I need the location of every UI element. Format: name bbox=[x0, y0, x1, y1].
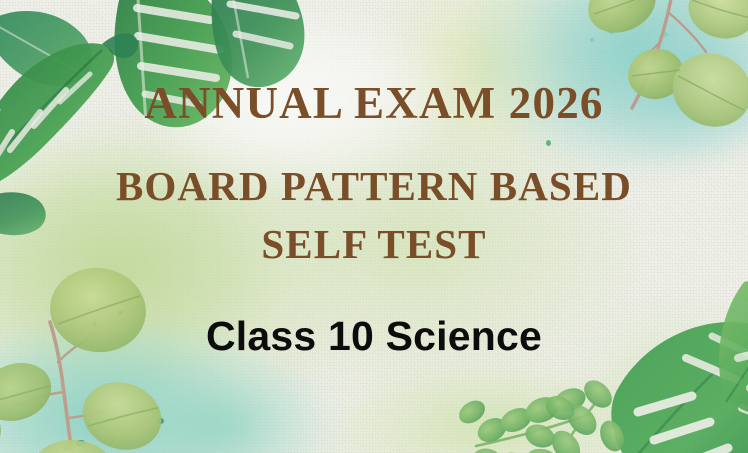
poster-title: ANNUAL EXAM 2026 bbox=[0, 80, 748, 127]
poster-class-line: Class 10 Science bbox=[0, 314, 748, 359]
poster-subtitle-line-2: SELF TEST bbox=[0, 215, 748, 273]
exam-poster: ANNUAL EXAM 2026 BOARD PATTERN BASED SEL… bbox=[0, 0, 748, 453]
poster-text-block: ANNUAL EXAM 2026 BOARD PATTERN BASED SEL… bbox=[0, 80, 748, 359]
poster-subtitle-line-1: BOARD PATTERN BASED bbox=[0, 157, 748, 215]
